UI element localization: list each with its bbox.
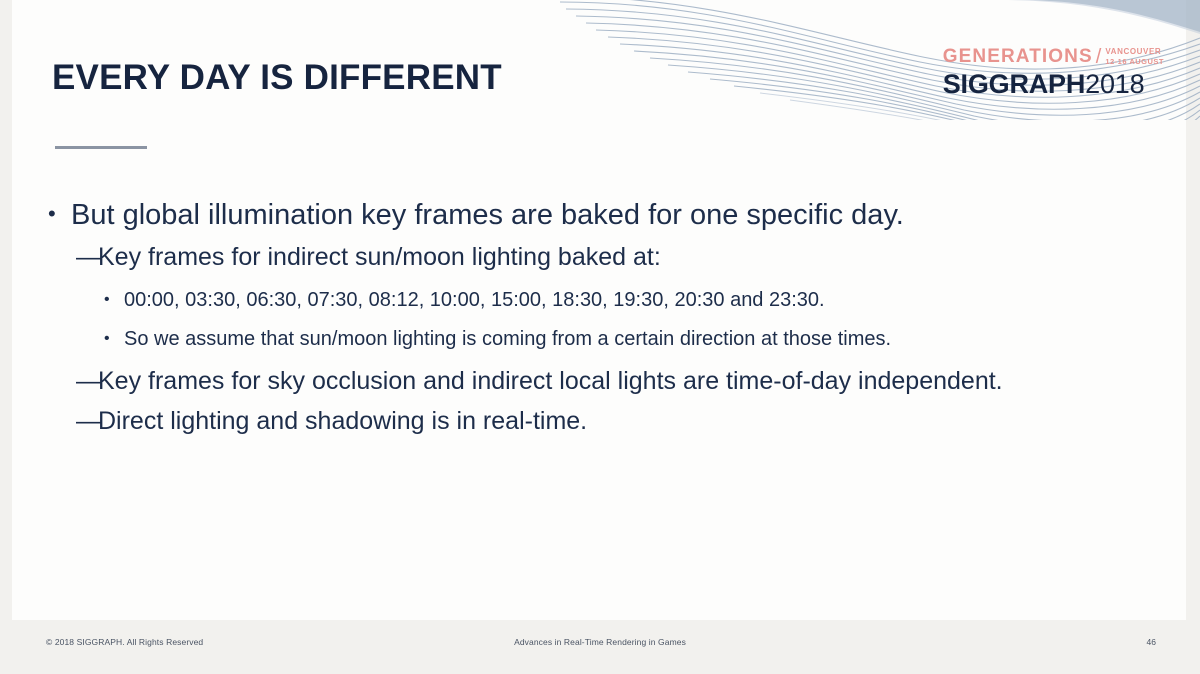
bullet-round-icon: • [48,198,71,230]
logo-generations-text: GENERATIONS [943,47,1093,66]
logo-year-text: 2018 [1085,69,1144,99]
slide-footer: © 2018 SIGGRAPH. All Rights Reserved Adv… [0,620,1200,674]
bullet-level3-times-text: 00:00, 03:30, 06:30, 07:30, 08:12, 10:00… [124,287,825,313]
bullet-level2-text: Key frames for sky occlusion and indirec… [98,366,1003,398]
page-title: EVERY DAY IS DIFFERENT [52,58,502,98]
bullet-level3-times: • 00:00, 03:30, 06:30, 07:30, 08:12, 10:… [104,287,1158,313]
bullet-level2-sky-occlusion: — Key frames for sky occlusion and indir… [76,366,1158,398]
bullet-level1-text: But global illumination key frames are b… [71,198,904,233]
logo-bottom-row: SIGGRAPH2018 [943,71,1164,98]
slide-body-content: • But global illumination key frames are… [48,198,1158,438]
logo-dates-text: 12-16 AUGUST [1105,58,1164,66]
logo-venue-block: VANCOUVER 12-16 AUGUST [1105,48,1164,66]
logo-siggraph-text: SIGGRAPH [943,69,1085,99]
logo-city-text: VANCOUVER [1105,48,1164,56]
bullet-level3-assumption-text: So we assume that sun/moon lighting is c… [124,326,891,352]
bullet-level3-assumption: • So we assume that sun/moon lighting is… [104,326,1158,352]
slide-edge-right [1186,0,1200,620]
bullet-dash-icon: — [76,242,98,272]
presentation-slide: EVERY DAY IS DIFFERENT GENERATIONS / VAN… [0,0,1200,674]
logo-top-row: GENERATIONS / VANCOUVER 12-16 AUGUST [943,47,1164,67]
bullet-small-icon: • [104,287,124,313]
bullet-level2-keyframes-sunmoon: — Key frames for indirect sun/moon light… [76,242,1158,274]
bullet-level2-text: Key frames for indirect sun/moon lightin… [98,242,661,274]
bullet-level3-group: • 00:00, 03:30, 06:30, 07:30, 08:12, 10:… [48,287,1158,352]
bullet-level2-direct-lighting: — Direct lighting and shadowing is in re… [76,406,1158,438]
slide-edge-left [0,0,12,620]
bullet-dash-icon: — [76,366,98,396]
siggraph-logo: GENERATIONS / VANCOUVER 12-16 AUGUST SIG… [943,47,1164,98]
bullet-small-icon: • [104,326,124,352]
bullet-level1: • But global illumination key frames are… [48,198,1158,233]
footer-session-title: Advances in Real-Time Rendering in Games [0,637,1200,647]
title-underline-rule [55,146,147,149]
bullet-level2-text: Direct lighting and shadowing is in real… [98,406,587,438]
bullet-dash-icon: — [76,406,98,436]
footer-page-number: 46 [1147,637,1156,647]
logo-slash-divider: / [1096,47,1102,67]
